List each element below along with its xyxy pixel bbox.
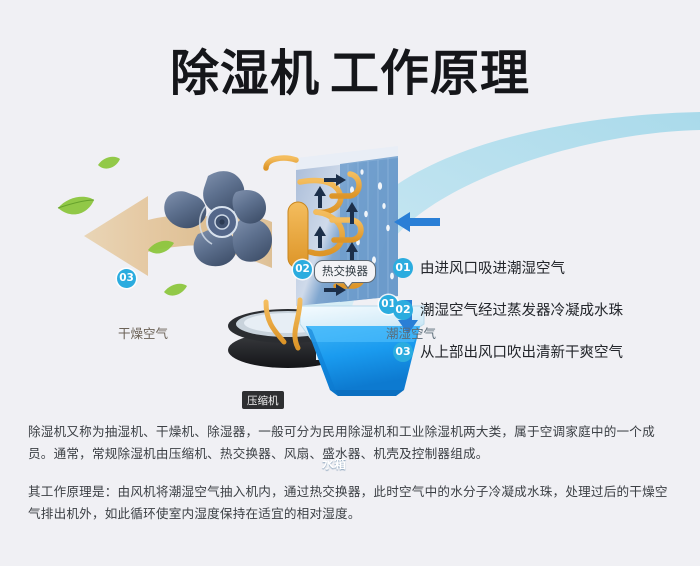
leaf-icon (98, 157, 120, 169)
page-title-part1: 除湿机 (170, 45, 320, 102)
page-root: 除湿机工作原理 (0, 0, 700, 566)
description-paragraph-2: 其工作原理是：由风机将潮湿空气抽入机内，通过热交换器，此时空气中的水分子冷凝成水… (28, 481, 676, 525)
legend-text-02: 潮湿空气经过蒸发器冷凝成水珠 (420, 299, 623, 320)
label-heat-exchanger: 热交换器 (314, 260, 376, 283)
badge-dry-air: 03 (117, 269, 136, 288)
leaf-icon (164, 284, 187, 296)
page-title: 除湿机工作原理 (0, 34, 700, 105)
legend-badge-01: 01 (393, 258, 413, 278)
legend-badge-02: 02 (393, 300, 413, 320)
description-paragraph-1: 除湿机又称为抽湿机、干燥机、除湿器，一般可分为民用除湿机和工业除湿机两大类，属于… (28, 421, 676, 465)
legend-text-03: 从上部出风口吹出清新干爽空气 (420, 341, 623, 362)
label-dry-air: 干燥空气 (118, 323, 168, 342)
legend-text-01: 由进风口吸进潮湿空气 (420, 257, 565, 278)
page-title-part2: 工作原理 (330, 45, 530, 102)
label-compressor: 压缩机 (242, 391, 284, 409)
leaf-icon (58, 197, 94, 215)
legend-badge-03: 03 (393, 342, 413, 362)
fan-icon (164, 171, 272, 266)
label-humid-air: 潮湿空气 (386, 323, 436, 342)
badge-heat-exchanger: 02 (293, 260, 312, 279)
compressor-cylinder (288, 202, 308, 268)
